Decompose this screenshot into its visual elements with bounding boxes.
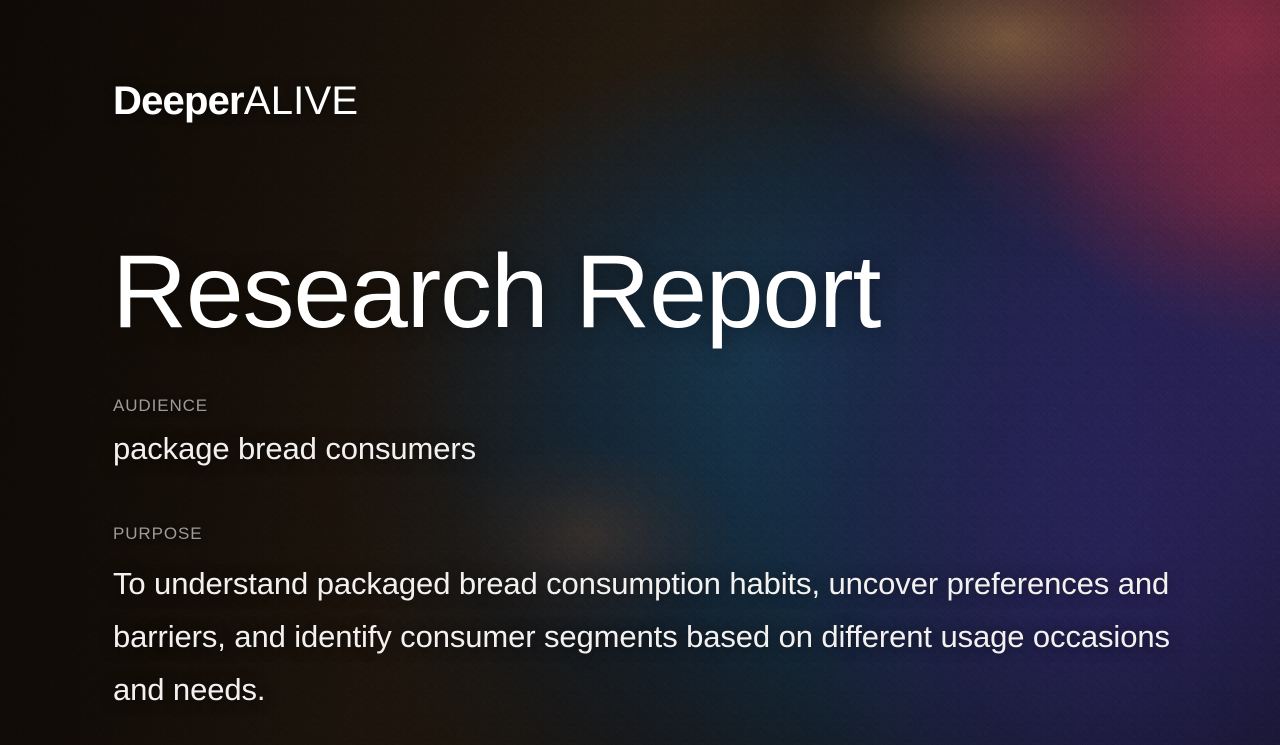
field-audience-label: AUDIENCE	[113, 396, 1183, 416]
brand-logo[interactable]: DeeperALIVE	[113, 81, 358, 121]
field-purpose: PURPOSE To understand packaged bread con…	[113, 524, 1183, 716]
page-title: Research Report	[112, 238, 880, 346]
brand-logo-secondary: ALIVE	[244, 79, 358, 123]
field-audience-value: package bread consumers	[113, 430, 1183, 467]
cover-content: DeeperALIVE Research Report AUDIENCE pac…	[0, 0, 1280, 745]
field-audience: AUDIENCE package bread consumers	[113, 396, 1183, 468]
report-cover: DeeperALIVE Research Report AUDIENCE pac…	[0, 0, 1280, 745]
field-purpose-label: PURPOSE	[113, 524, 1183, 544]
brand-logo-primary: Deeper	[113, 79, 244, 123]
field-purpose-value: To understand packaged bread consumption…	[113, 558, 1183, 716]
